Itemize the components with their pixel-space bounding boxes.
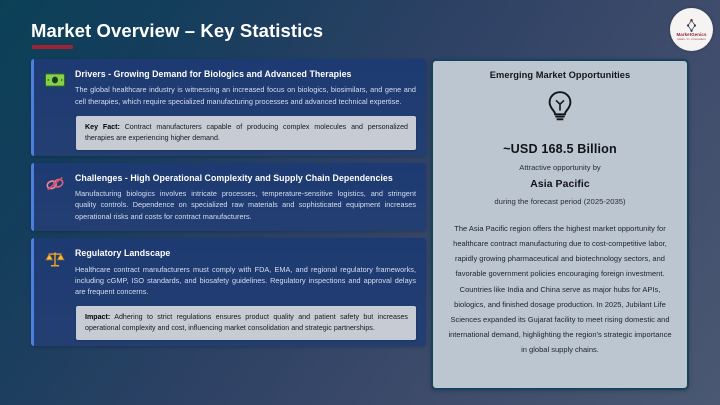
title-underline-rule bbox=[32, 45, 73, 49]
leading-region: Asia Pacific bbox=[447, 179, 673, 190]
broken-chain-link-icon bbox=[44, 173, 66, 195]
card-title: Challenges - High Operational Complexity… bbox=[75, 172, 416, 184]
callout-text: Contract manufacturers capable of produc… bbox=[85, 123, 408, 142]
card-description: Manufacturing biologics involves intrica… bbox=[75, 188, 416, 222]
network-nodes-icon bbox=[684, 18, 699, 33]
market-value: ~USD 168.5 Billion bbox=[447, 142, 673, 156]
impact-callout: Impact: Adhering to strict regulations e… bbox=[76, 306, 416, 340]
callout-text: Adhering to strict regulations ensures p… bbox=[85, 313, 408, 332]
info-card-regulatory[interactable]: Regulatory Landscape Healthcare contract… bbox=[31, 238, 426, 346]
card-title: Drivers - Growing Demand for Biologics a… bbox=[75, 68, 416, 80]
info-card-challenges[interactable]: Challenges - High Operational Complexity… bbox=[31, 163, 426, 231]
emerging-market-opportunities-panel: Emerging Market Opportunities ~USD 168.5… bbox=[431, 59, 689, 390]
callout-label: Impact: bbox=[85, 313, 110, 321]
forecast-period: during the forecast period (2025-2035) bbox=[447, 197, 673, 206]
key-fact-callout: Key Fact: Contract manufacturers capable… bbox=[76, 116, 416, 150]
key-statistics-card-list: Drivers - Growing Demand for Biologics a… bbox=[31, 59, 426, 353]
market-value-caption: Attractive opportunity by bbox=[447, 163, 673, 172]
info-card-drivers[interactable]: Drivers - Growing Demand for Biologics a… bbox=[31, 59, 426, 156]
brand-logo: MarketGenics Ideas. In. Innovation bbox=[670, 8, 713, 51]
page-title: Market Overview – Key Statistics bbox=[31, 20, 323, 42]
panel-title: Emerging Market Opportunities bbox=[447, 70, 673, 80]
card-title: Regulatory Landscape bbox=[75, 247, 416, 259]
card-description: The global healthcare industry is witnes… bbox=[75, 84, 416, 107]
card-description: Healthcare contract manufacturers must c… bbox=[75, 264, 416, 298]
balance-scale-icon bbox=[44, 248, 66, 270]
panel-paragraph: The Asia Pacific region offers the highe… bbox=[447, 221, 673, 357]
lightbulb-icon bbox=[546, 90, 574, 122]
money-banknote-icon bbox=[44, 69, 66, 91]
callout-label: Key Fact: bbox=[85, 123, 120, 131]
logo-tagline: Ideas. In. Innovation bbox=[677, 38, 706, 42]
slide-header: Market Overview – Key Statistics MarketG… bbox=[0, 0, 720, 56]
